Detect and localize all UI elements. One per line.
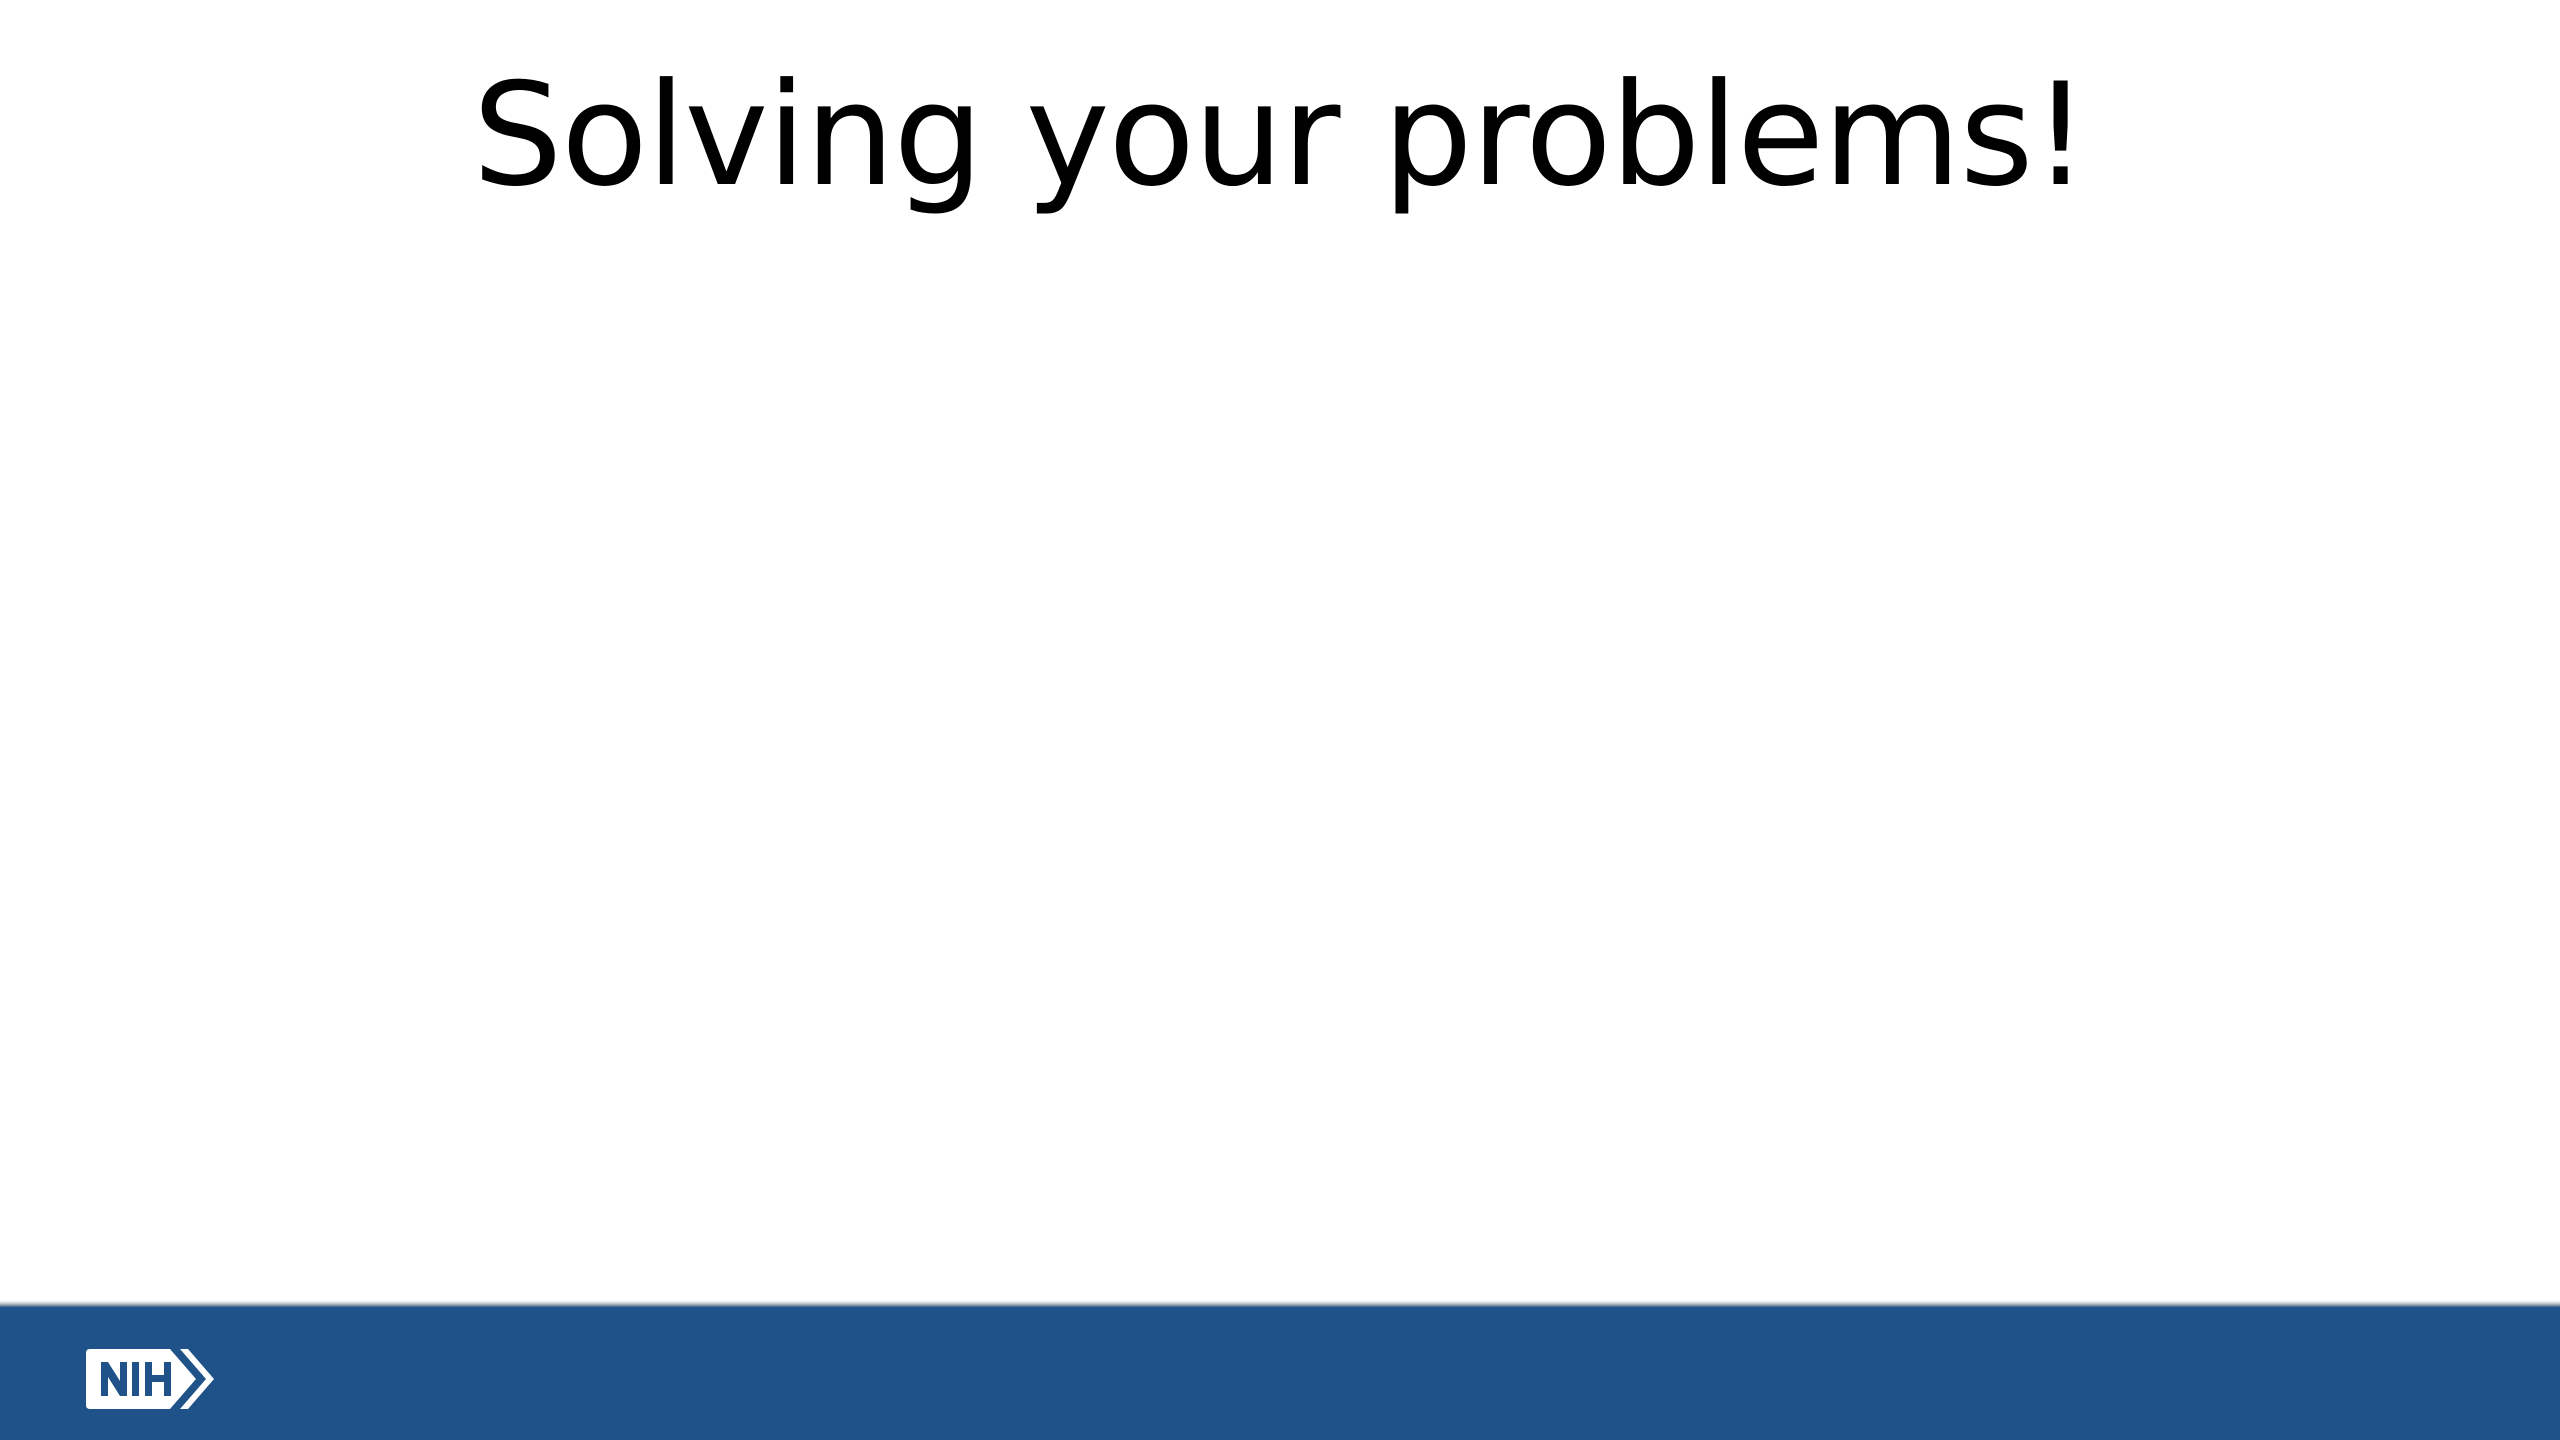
presentation-slide: Solving your problems! — [0, 0, 2560, 1440]
slide-body-content — [0, 300, 2560, 1300]
footer-divider — [0, 1300, 2560, 1307]
nih-logo — [84, 1343, 220, 1415]
title-placeholder: Solving your problems! — [0, 52, 2560, 282]
slide-footer: U.S. National Library of Medicine 23 — [0, 1307, 2560, 1440]
slide-title: Solving your problems! — [472, 52, 2087, 220]
